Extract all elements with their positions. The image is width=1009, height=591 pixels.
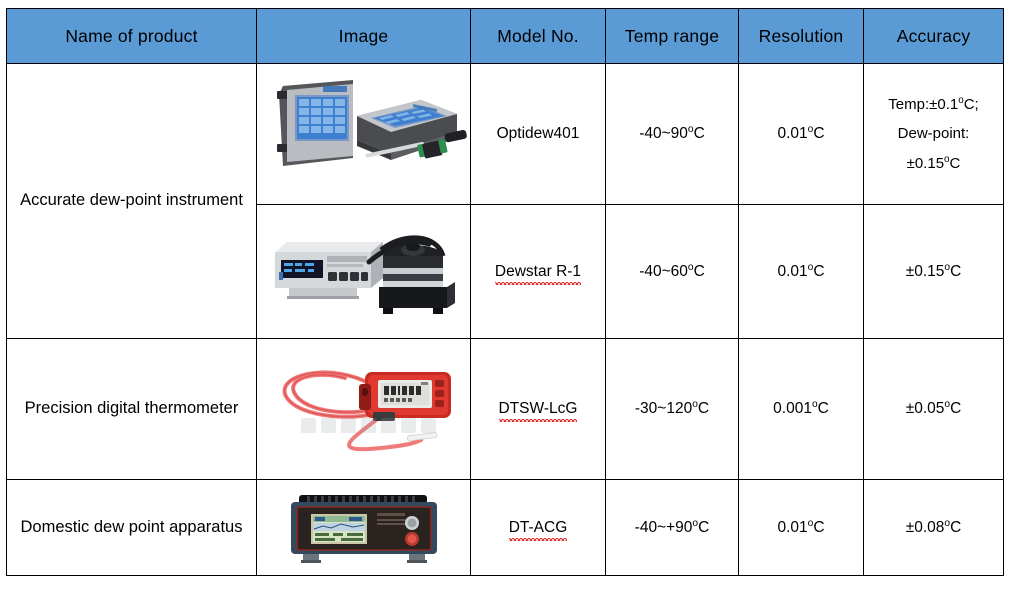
column-header-resolution: Resolution	[739, 9, 864, 64]
accuracy-text: ±0.15	[907, 155, 944, 172]
product-photo-dtsw-lcg	[257, 344, 470, 474]
cell-temp-range: -40~+90oC	[606, 480, 739, 576]
accuracy-unit: C	[950, 263, 961, 280]
table-header: Name of product Image Model No. Temp ran…	[7, 9, 1004, 64]
cell-resolution: 0.001oC	[739, 339, 864, 480]
accuracy-unit: C	[950, 519, 961, 536]
column-header-image: Image	[257, 9, 471, 64]
cell-accuracy: ±0.15oC	[864, 205, 1004, 339]
product-specification-table: Name of product Image Model No. Temp ran…	[6, 8, 1004, 576]
cell-product-name: Domestic dew point apparatus	[7, 480, 257, 576]
cell-resolution: 0.01oC	[739, 205, 864, 339]
column-header-model-no: Model No.	[471, 9, 606, 64]
cell-accuracy: Temp:±0.1oC; Dew-point: ±0.15oC	[864, 64, 1004, 205]
table-row: Precision digital thermometer	[7, 339, 1004, 480]
accuracy-line: Dew-point:	[864, 119, 1003, 148]
table-header-row: Name of product Image Model No. Temp ran…	[7, 9, 1004, 64]
accuracy-line: Temp:±0.1oC;	[864, 90, 1003, 119]
product-photo-dewstar-r1	[257, 210, 470, 334]
product-photo-optidew401	[257, 68, 470, 200]
resolution-value: 0.001	[773, 400, 812, 417]
resolution-unit: C	[813, 125, 824, 142]
table-row: Domestic dew point apparatus	[7, 480, 1004, 576]
document-page: Name of product Image Model No. Temp ran…	[0, 0, 1009, 591]
temp-range-unit: C	[698, 519, 709, 536]
model-text: Optidew401	[497, 125, 580, 143]
accuracy-text: ±0.08	[906, 519, 945, 536]
temp-range-value: -40~60	[639, 263, 688, 280]
accuracy-text: Dew-point:	[898, 125, 970, 142]
column-header-temp-range: Temp range	[606, 9, 739, 64]
cell-product-name: Accurate dew-point instrument	[7, 64, 257, 339]
model-text: Dewstar R-1	[495, 263, 581, 281]
cell-product-image	[257, 339, 471, 480]
cell-model-no: DTSW-LcG	[471, 339, 606, 480]
dewstar-r1-illustration	[261, 210, 467, 334]
accuracy-text: ±0.05	[906, 400, 945, 417]
dtsw-lcg-illustration	[261, 344, 467, 474]
product-photo-dt-acg	[257, 483, 470, 573]
accuracy-unit: C	[950, 400, 961, 417]
cell-accuracy: ±0.05oC	[864, 339, 1004, 480]
resolution-unit: C	[818, 400, 829, 417]
resolution-value: 0.01	[777, 263, 807, 280]
cell-accuracy: ±0.08oC	[864, 480, 1004, 576]
cell-model-no: Dewstar R-1	[471, 205, 606, 339]
cell-product-image	[257, 64, 471, 205]
column-header-name-of-product: Name of product	[7, 9, 257, 64]
accuracy-text: ±0.15	[906, 263, 945, 280]
cell-model-no: DT-ACG	[471, 480, 606, 576]
temp-range-value: -40~90	[639, 125, 688, 142]
table-row: Accurate dew-point instrument	[7, 64, 1004, 205]
cell-resolution: 0.01oC	[739, 480, 864, 576]
accuracy-text: Temp:±0.1	[888, 96, 958, 113]
temp-range-unit: C	[694, 125, 705, 142]
resolution-value: 0.01	[777, 519, 807, 536]
table-body: Accurate dew-point instrument	[7, 64, 1004, 576]
temp-range-unit: C	[694, 263, 705, 280]
cell-product-image	[257, 480, 471, 576]
cell-temp-range: -30~120oC	[606, 339, 739, 480]
resolution-unit: C	[813, 519, 824, 536]
resolution-unit: C	[813, 263, 824, 280]
column-header-accuracy: Accuracy	[864, 9, 1004, 64]
model-text: DT-ACG	[509, 519, 568, 537]
cell-temp-range: -40~90oC	[606, 64, 739, 205]
accuracy-unit: C	[964, 96, 975, 113]
temp-range-unit: C	[698, 400, 709, 417]
model-text: DTSW-LcG	[499, 400, 578, 418]
cell-product-name: Precision digital thermometer	[7, 339, 257, 480]
optidew401-illustration	[261, 68, 467, 200]
temp-range-value: -30~120	[635, 400, 692, 417]
cell-resolution: 0.01oC	[739, 64, 864, 205]
accuracy-line: ±0.15oC	[864, 149, 1003, 178]
cell-model-no: Optidew401	[471, 64, 606, 205]
resolution-value: 0.01	[777, 125, 807, 142]
cell-temp-range: -40~60oC	[606, 205, 739, 339]
accuracy-unit: C	[950, 155, 961, 172]
accuracy-suffix: ;	[975, 96, 979, 113]
temp-range-value: -40~+90	[635, 519, 693, 536]
cell-product-image	[257, 205, 471, 339]
dt-acg-illustration	[261, 483, 467, 573]
